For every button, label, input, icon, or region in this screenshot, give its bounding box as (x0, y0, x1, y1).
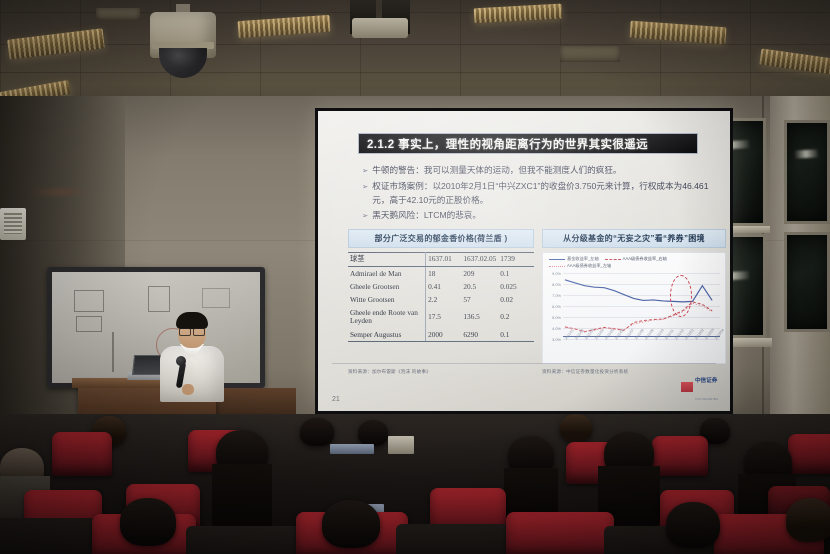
cell-value: 18 (426, 267, 462, 281)
cell-bulb-name: Admirael de Man (348, 267, 426, 281)
y-tick-label: 8.0% (544, 282, 561, 287)
audience-head (560, 414, 592, 442)
slide-content: 2.1.2 事实上，理性的视角距离行为的世界其实很遥远 ➢ 牛顿的警告：我可以测… (318, 111, 730, 411)
col-header-1739: 1739 (498, 253, 534, 267)
tulip-panel-heading: 部分广泛交易的郁金香价格(荷兰盾 ) (348, 229, 534, 248)
auditorium-seat-back (396, 524, 516, 554)
audience-head (322, 500, 380, 548)
legend-swatch-red-dashed (605, 259, 621, 260)
window-pane (784, 120, 830, 224)
bullet-text: 权证市场案例：以2010年2月1日“中兴ZXC1”的收盘价3.750元来计算，行… (372, 180, 714, 207)
tulip-price-panel: 部分广泛交易的郁金香价格(荷兰盾 ) 球茎 1637.01 1637.02.05… (348, 229, 534, 342)
chart-panel-heading: 从分级基金的“无妄之灾”看“养券”困境 (542, 229, 726, 248)
audience-head (120, 498, 176, 546)
audience-head (666, 502, 720, 548)
col-header-16370205: 1637.02.05 (461, 253, 498, 267)
legend-label: AAA级债券收益率_左轴 (567, 263, 611, 269)
dome-security-camera-icon (150, 4, 216, 84)
table-row: Witte Grootsen 2.2 57 0.02 (348, 294, 534, 307)
table-header-row: 球茎 1637.01 1637.02.05 1739 (348, 253, 534, 267)
cell-value: 0.02 (498, 294, 534, 307)
cell-value: 0.1 (498, 267, 534, 281)
projection-screen: 2.1.2 事实上，理性的视角距离行为的世界其实很遥远 ➢ 牛顿的警告：我可以测… (315, 108, 733, 414)
glasses-icon (179, 327, 205, 333)
cell-bulb-name: Gheele Grootsen (348, 280, 426, 293)
right-source-note: 资料来源：中信证券数量化投资分析系统 (542, 369, 628, 375)
auditorium-seat (788, 434, 830, 474)
projector-arm (376, 0, 382, 20)
cell-value: 20.5 (461, 280, 498, 293)
slide-title-bar: 2.1.2 事实上，理性的视角距离行为的世界其实很遥远 (358, 133, 698, 154)
ceiling-vent (560, 46, 620, 62)
ceiling-vent (96, 8, 140, 20)
legend-swatch-blue (549, 259, 565, 260)
chart-highlight-ellipse (670, 275, 692, 317)
col-header-163701: 1637.01 (426, 253, 462, 267)
microphone-icon (176, 356, 186, 366)
cell-value: 2.2 (426, 294, 462, 307)
bullet-item: ➢ 权证市场案例：以2010年2月1日“中兴ZXC1”的收盘价3.750元来计算… (362, 180, 714, 207)
ceiling-projector (352, 18, 408, 38)
logo-mark-icon (681, 382, 693, 392)
fund-yield-chart-panel: 从分级基金的“无妄之灾”看“养券”困境 基金收益率_左轴 AAA级债券收益率_右… (542, 229, 726, 364)
legend-label: 基金收益率_左轴 (567, 256, 599, 262)
audience-laptop (330, 444, 374, 454)
audience-area (0, 414, 830, 554)
line-chart: 基金收益率_左轴 AAA级债券收益率_右轴 AAA级债券收益率_左轴 9.0% … (542, 252, 726, 364)
cell-value: 6290 (461, 328, 498, 342)
logo-text: 中信证券 (695, 378, 717, 384)
cell-value: 0.1 (498, 328, 534, 342)
cell-value: 0.41 (426, 280, 462, 293)
audience-notebook (388, 436, 414, 454)
auditorium-seat (652, 436, 708, 476)
col-header-bulb: 球茎 (348, 253, 426, 267)
y-tick-label: 3.0% (544, 337, 561, 342)
legend-label: AAA级债券收益率_右轴 (623, 256, 667, 262)
tulip-price-table: 球茎 1637.01 1637.02.05 1739 Admirael de M… (348, 252, 534, 342)
slide-bullet-list: ➢ 牛顿的警告：我可以测量天体的运动，但我不能测度人们的疯狂。 ➢ 权证市场案例… (362, 164, 714, 225)
y-tick-label: 5.0% (544, 315, 561, 320)
bullet-text: 黑天鹅风险：LTCM的悲哀。 (372, 209, 481, 223)
cell-bulb-name: Semper Augustus (348, 328, 426, 342)
presenter-hand (182, 384, 194, 395)
cell-value: 209 (461, 267, 498, 281)
cell-value: 17.5 (426, 307, 462, 329)
presenter (156, 310, 228, 400)
cell-bulb-name: Witte Grootsen (348, 294, 426, 307)
y-tick-label: 7.0% (544, 293, 561, 298)
audience-head (358, 420, 388, 446)
bullet-marker: ➢ (362, 164, 368, 178)
table-row: Gheele Grootsen 0.41 20.5 0.025 (348, 280, 534, 293)
cell-value: 0.025 (498, 280, 534, 293)
auditorium-seat (52, 432, 112, 476)
wall-speaker (0, 208, 26, 240)
auditorium-seat-back (186, 526, 302, 554)
logo-subtext: CITIC SECURITIES (695, 398, 718, 401)
auditorium-seat (506, 512, 614, 554)
y-tick-label: 6.0% (544, 304, 561, 309)
table-row: Semper Augustus 2000 6290 0.1 (348, 328, 534, 342)
bullet-item: ➢ 牛顿的警告：我可以测量天体的运动，但我不能测度人们的疯狂。 (362, 164, 714, 178)
left-source-note: 资料来源：加尔布雷斯《泡沫 的故事》 (348, 369, 431, 375)
cell-value: 57 (461, 294, 498, 307)
legend-swatch-red-dotted (549, 266, 565, 267)
table-row: Admirael de Man 18 209 0.1 (348, 267, 534, 281)
cell-bulb-name: Gheele ende Roote van Leyden (348, 307, 426, 329)
audience-head (300, 418, 334, 446)
x-axis-labels: 2011/01 2011/02 2011/03 2011/04 2011/05 … (563, 337, 721, 361)
slide-title: 2.1.2 事实上，理性的视角距离行为的世界其实很遥远 (367, 136, 648, 152)
citic-logo: 中信证券 CITIC SECURITIES (681, 369, 718, 405)
bullet-marker: ➢ (362, 180, 368, 207)
y-tick-label: 4.0% (544, 326, 561, 331)
audience-head (786, 498, 830, 542)
table-row: Gheele ende Roote van Leyden 17.5 136.5 … (348, 307, 534, 329)
y-tick-label: 9.0% (544, 271, 561, 276)
slide-page-number: 21 (332, 396, 340, 403)
wall-stain (30, 186, 90, 198)
slide-footer-divider (332, 363, 716, 364)
chart-legend: 基金收益率_左轴 AAA级债券收益率_右轴 AAA级债券收益率_左轴 (549, 256, 721, 270)
window-pane (784, 232, 830, 332)
cell-value: 2000 (426, 328, 462, 342)
bullet-text: 牛顿的警告：我可以测量天体的运动，但我不能测度人们的疯狂。 (372, 164, 621, 178)
bullet-marker: ➢ (362, 209, 368, 223)
cell-value: 136.5 (461, 307, 498, 329)
bullet-item: ➢ 黑天鹅风险：LTCM的悲哀。 (362, 209, 714, 223)
cell-value: 0.2 (498, 307, 534, 329)
lecture-hall-scene: 2.1.2 事实上，理性的视角距离行为的世界其实很遥远 ➢ 牛顿的警告：我可以测… (0, 0, 830, 554)
